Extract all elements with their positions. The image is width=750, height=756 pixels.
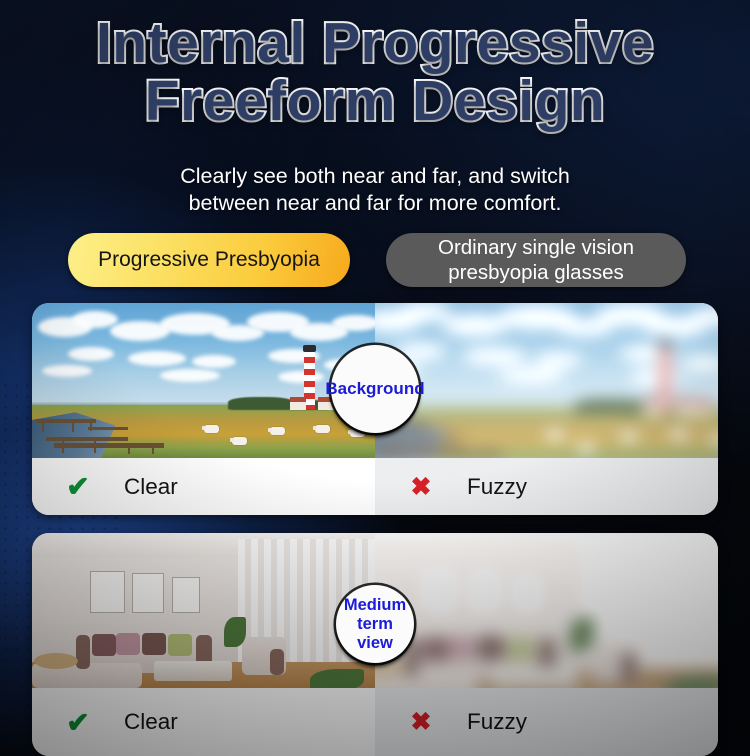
- pill-progressive-presbyopia[interactable]: Progressive Presbyopia: [68, 233, 350, 287]
- comparison-legend: Progressive Presbyopia Ordinary single v…: [32, 233, 718, 287]
- promo-page: Internal Progressive Freeform Design Cle…: [0, 0, 750, 756]
- verdict-label-fuzzy: Fuzzy: [467, 709, 527, 735]
- cross-icon: ✖: [375, 472, 467, 502]
- verdict-cell-clear: ✔ Clear: [32, 688, 375, 756]
- page-subtitle: Clearly see both near and far, and switc…: [0, 163, 750, 217]
- photo-clear-lighthouse: [32, 303, 375, 458]
- verdict-row: ✔ Clear ✖ Fuzzy: [32, 688, 718, 756]
- badge-background-label: Background: [325, 380, 424, 398]
- photo-blurred-living-room: [375, 533, 718, 688]
- badge-background: Background: [331, 345, 419, 433]
- verdict-label-clear: Clear: [124, 474, 178, 500]
- badge-medium-term-view-label: Medium term view: [344, 596, 406, 653]
- pill-ordinary-single-vision-label: Ordinary single vision presbyopia glasse…: [438, 235, 634, 285]
- cross-icon: ✖: [375, 707, 467, 737]
- photo-clear-living-room: [32, 533, 375, 688]
- verdict-cell-fuzzy: ✖ Fuzzy: [375, 458, 718, 515]
- check-icon: ✔: [32, 470, 124, 503]
- verdict-label-fuzzy: Fuzzy: [467, 474, 527, 500]
- badge-medium-term-view: Medium term view: [336, 585, 414, 663]
- pill-progressive-presbyopia-label: Progressive Presbyopia: [98, 248, 320, 272]
- verdict-row: ✔ Clear ✖ Fuzzy: [32, 458, 718, 515]
- verdict-label-clear: Clear: [124, 709, 178, 735]
- check-icon: ✔: [32, 706, 124, 739]
- verdict-cell-fuzzy: ✖ Fuzzy: [375, 688, 718, 756]
- page-title: Internal Progressive Freeform Design: [0, 14, 750, 130]
- verdict-cell-clear: ✔ Clear: [32, 458, 375, 515]
- pill-ordinary-single-vision[interactable]: Ordinary single vision presbyopia glasse…: [386, 233, 686, 287]
- photo-blurred-lighthouse: [375, 303, 718, 458]
